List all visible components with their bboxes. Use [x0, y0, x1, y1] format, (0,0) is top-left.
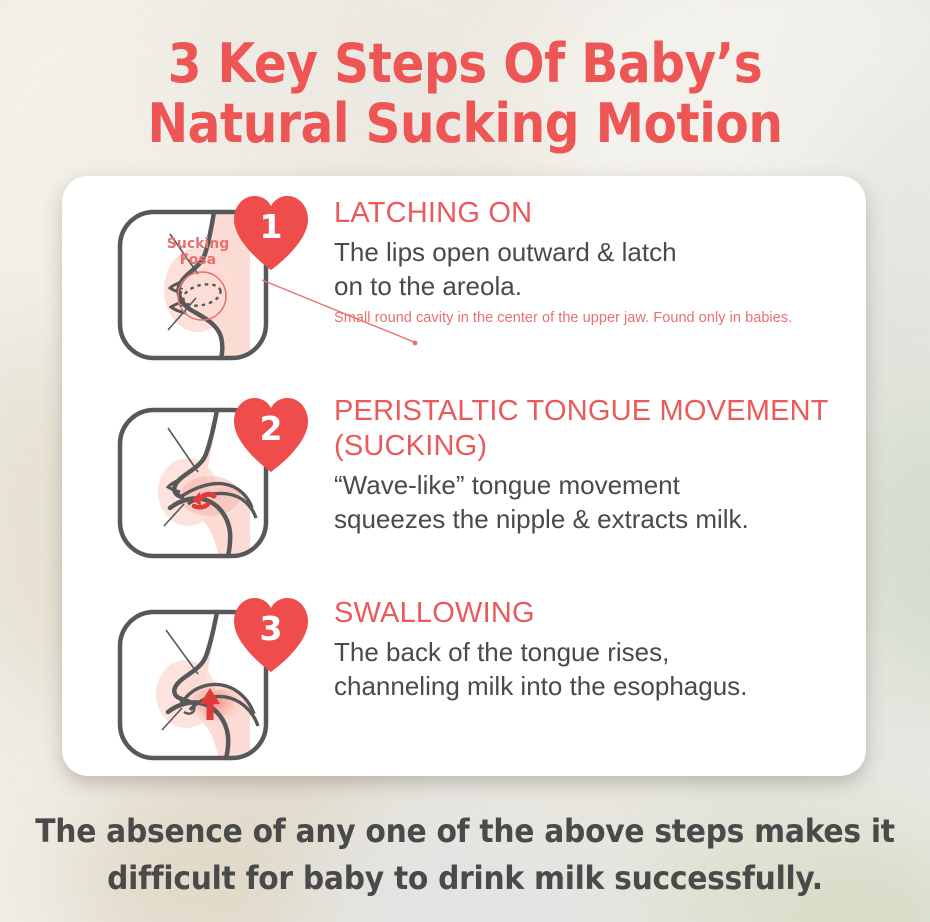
step-number-3: 3	[228, 592, 314, 678]
step-badge-1: 1	[228, 190, 314, 276]
bottom-caption-line-2: difficult for baby to drink milk success…	[33, 855, 898, 902]
diagram-label-line-1: Sucking	[167, 236, 229, 252]
step-text-1: LATCHING ON The lips open outward & latc…	[334, 196, 854, 327]
bottom-caption: The absence of any one of the above step…	[33, 808, 898, 902]
page-title-line-2: Natural Sucking Motion	[47, 94, 884, 154]
step-number-2: 2	[228, 392, 314, 478]
step-text-3: SWALLOWING The back of the tongue rises,…	[334, 596, 854, 703]
step-number-1: 1	[228, 190, 314, 276]
step-title-3: SWALLOWING	[334, 596, 854, 631]
page-title-line-1: 3 Key Steps Of Baby’s	[47, 34, 884, 94]
step-title-2: PERISTALTIC TONGUE MOVEMENT (SUCKING)	[334, 394, 854, 464]
step-badge-2: 2	[228, 392, 314, 478]
steps-card: Sucking Fosa 1 LATCHING ON The lips open…	[62, 176, 866, 776]
step-body-2: “Wave-like” tongue movement squeezes the…	[334, 468, 854, 536]
step-row-1: Sucking Fosa 1 LATCHING ON The lips open…	[62, 190, 866, 386]
page-title: 3 Key Steps Of Baby’s Natural Sucking Mo…	[47, 34, 884, 154]
diagram-label-line-2: Fosa	[180, 252, 216, 268]
step-title-1: LATCHING ON	[334, 196, 854, 231]
step-body-3: The back of the tongue rises, channeling…	[334, 635, 854, 703]
step-badge-3: 3	[228, 592, 314, 678]
step-footnote-1: Small round cavity in the center of the …	[334, 309, 854, 327]
step-row-3: 3 SWALLOWING The back of the tongue rise…	[62, 590, 866, 776]
bottom-caption-line-1: The absence of any one of the above step…	[33, 808, 898, 855]
step-text-2: PERISTALTIC TONGUE MOVEMENT (SUCKING) “W…	[334, 394, 854, 536]
step-body-1: The lips open outward & latch on to the …	[334, 235, 854, 303]
step-row-2: 2 PERISTALTIC TONGUE MOVEMENT (SUCKING) …	[62, 388, 866, 584]
